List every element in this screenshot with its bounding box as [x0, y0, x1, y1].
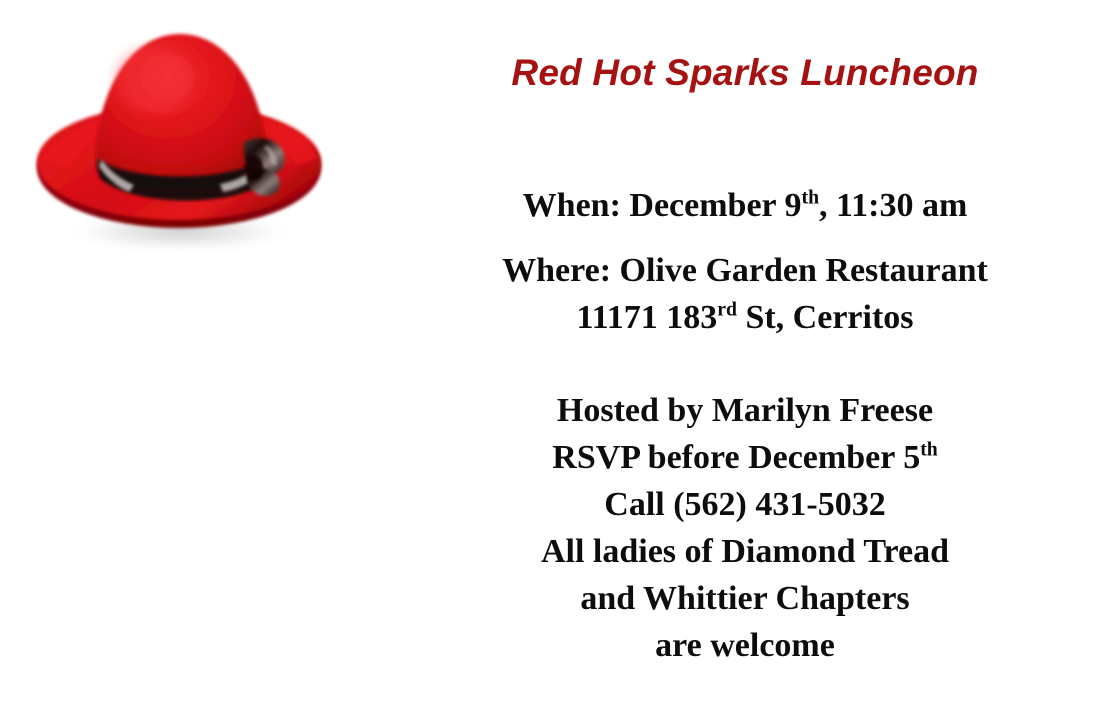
- event-details: When: December 9th, 11:30 am Where: Oliv…: [420, 182, 1070, 669]
- detail-address-suffix: St, Cerritos: [737, 299, 914, 336]
- detail-when-suffix: , 11:30 am: [819, 187, 967, 224]
- page-title: Red Hot Sparks Luncheon: [420, 50, 1070, 96]
- detail-invite-line-3: are welcome: [420, 622, 1070, 669]
- hat-crown-highlight: [114, 46, 194, 114]
- flyer-slide: Red Hot Sparks Luncheon When: December 9…: [0, 0, 1100, 720]
- detail-address-ordinal: rd: [717, 299, 737, 321]
- red-hat-illustration: [30, 18, 350, 253]
- red-hat-icon: [30, 18, 350, 253]
- detail-invite-line-2: and Whittier Chapters: [420, 575, 1070, 622]
- detail-when-prefix: When: December 9: [523, 187, 802, 224]
- detail-invite-line-1: All ladies of Diamond Tread: [420, 528, 1070, 575]
- detail-hosted-by: Hosted by Marilyn Freese: [420, 387, 1070, 434]
- detail-rsvp: RSVP before December 5th: [420, 434, 1070, 481]
- detail-rsvp-ordinal: th: [920, 439, 938, 461]
- flyer-text-column: Red Hot Sparks Luncheon When: December 9…: [420, 0, 1070, 720]
- detail-when: When: December 9th, 11:30 am: [420, 182, 1070, 229]
- detail-where-address: 11171 183rd St, Cerritos: [420, 294, 1070, 341]
- spacer-after-when: [420, 229, 1070, 247]
- detail-where-venue: Where: Olive Garden Restaurant: [420, 247, 1070, 294]
- hat-bow-knot: [245, 155, 263, 181]
- detail-address-prefix: 11171 183: [576, 299, 717, 336]
- detail-when-ordinal: th: [802, 187, 820, 209]
- detail-rsvp-prefix: RSVP before December 5: [552, 439, 920, 476]
- detail-phone: Call (562) 431-5032: [420, 481, 1070, 528]
- spacer-before-host: [420, 341, 1070, 387]
